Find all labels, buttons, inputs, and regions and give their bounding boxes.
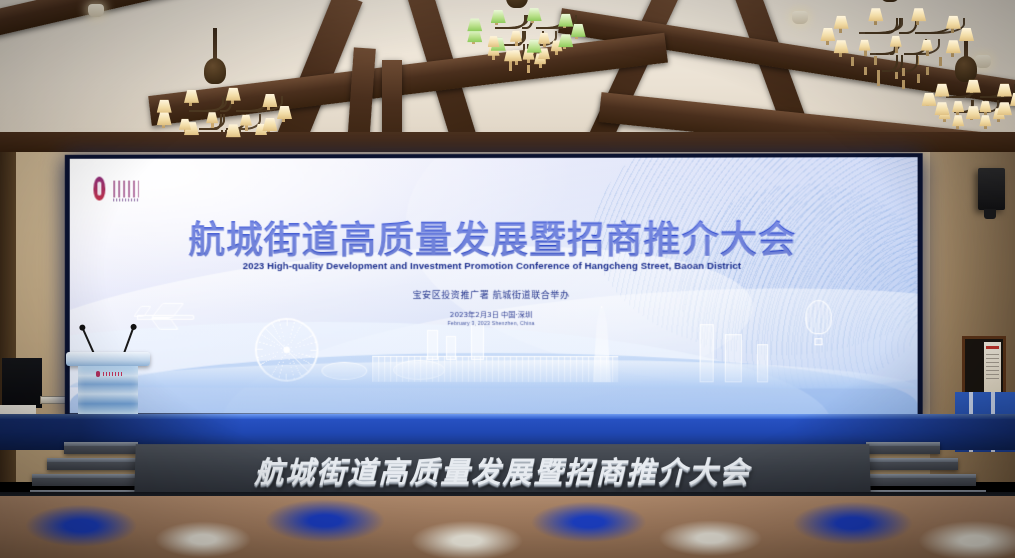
screen-title-cn: 航城街道高质量发展暨招商推介大会 <box>70 210 918 265</box>
chandelier-lamp <box>922 93 937 106</box>
chandelier-hub <box>204 58 226 84</box>
chandelier <box>430 0 605 92</box>
vaulted-ceiling <box>0 0 1015 152</box>
chandelier-lamp <box>226 88 241 101</box>
screen-organizers: 宝安区投资推广署 航城街道联合举办 <box>70 288 918 301</box>
chandelier-lamp <box>834 16 849 29</box>
chandelier-candle <box>527 65 530 72</box>
conference-hall-scene: 航城街道高质量发展暨招商推介大会 2023 High-quality Devel… <box>0 0 1015 558</box>
screen-date-en: February 3, 2023 Shenzhen, China <box>70 321 918 327</box>
chandelier-lamp <box>184 90 199 103</box>
chandelier-lamp <box>859 40 871 51</box>
chandelier-lamp <box>834 40 849 53</box>
screen-subtitle-en: 2023 High-quality Development and Invest… <box>70 261 918 272</box>
stage-front-banner-text: 航城街道高质量发展暨招商推介大会 <box>134 444 870 496</box>
chandelier-candle <box>877 78 880 86</box>
chandelier-lamp <box>262 118 277 131</box>
logo-subtext <box>113 198 139 201</box>
chandelier-lamp <box>277 106 292 119</box>
chandelier-lamp <box>911 8 926 21</box>
office-tower-icon <box>446 336 456 360</box>
stage-front-panel: 航城街道高质量发展暨招商推介大会 <box>134 444 870 496</box>
logo-mark-icon <box>93 177 105 201</box>
dark-av-equipment <box>2 358 42 408</box>
chandelier-lamp <box>179 119 191 130</box>
framed-wall-notice <box>962 336 1006 398</box>
chandelier-candle <box>874 56 877 64</box>
chandelier-lamp <box>157 100 172 113</box>
wall-control-panel <box>40 396 66 404</box>
chandelier-lamp <box>952 115 964 126</box>
screen-date-cn: 2023年2月3日 中国·深圳 <box>70 310 918 320</box>
logo-wordmark <box>113 181 139 198</box>
chandelier-hub <box>506 0 528 8</box>
chandelier-lamp <box>997 102 1012 115</box>
chandelier-hub <box>955 56 977 82</box>
led-screen-frame: 航城街道高质量发展暨招商推介大会 2023 High-quality Devel… <box>65 153 923 419</box>
ceiling-spotlight-icon <box>88 4 104 17</box>
chandelier-lamp <box>820 28 835 41</box>
chandelier-lamp <box>157 112 172 125</box>
patterned-hotel-carpet <box>0 496 1015 558</box>
podium-top <box>66 352 150 366</box>
chandelier-hub <box>879 0 901 2</box>
skyline-waterline <box>70 360 918 389</box>
chandelier-lamp <box>966 80 981 93</box>
led-screen: 航城街道高质量发展暨招商推介大会 2023 High-quality Devel… <box>70 157 918 415</box>
chandelier-lamp <box>979 115 991 126</box>
chandelier-candle <box>877 70 880 78</box>
office-tower-icon <box>471 324 484 360</box>
chandelier-lamp <box>868 8 883 21</box>
podium-logo <box>96 371 126 377</box>
baoan-investment-logo <box>93 177 142 203</box>
chandelier-lamp <box>491 10 506 23</box>
chandelier-lamp <box>527 8 542 21</box>
office-tower-icon <box>427 330 438 360</box>
chandelier-candle <box>864 67 867 75</box>
chandelier-lamp <box>934 102 949 115</box>
chandelier-stem <box>213 28 217 62</box>
chandelier-candle <box>851 57 854 65</box>
chandelier-lamp <box>467 18 482 31</box>
wall-mounted-loudspeaker <box>978 168 1005 210</box>
notice-paper <box>984 342 1001 392</box>
